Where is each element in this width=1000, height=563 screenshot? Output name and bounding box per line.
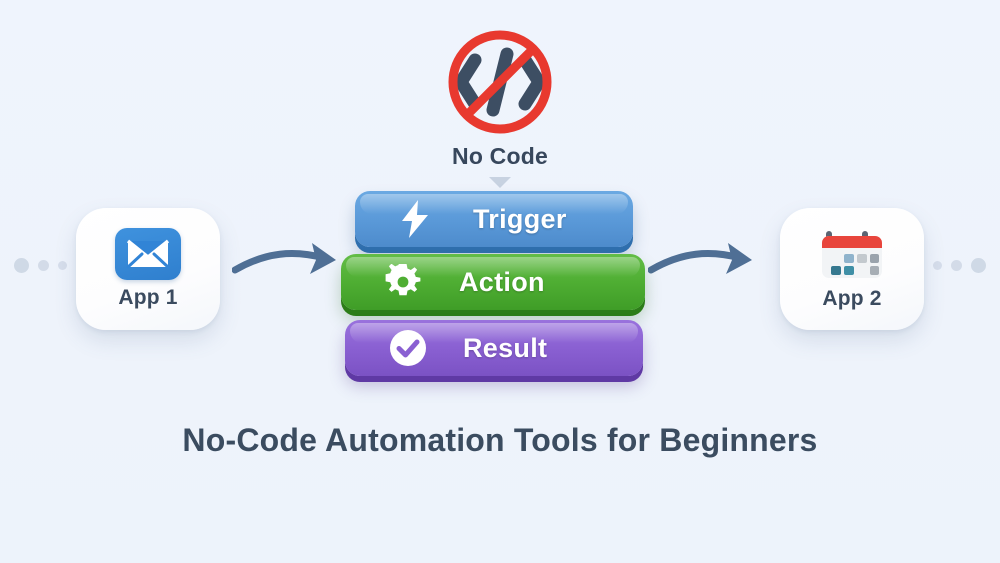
diagram-canvas: No Code App 1: [0, 0, 1000, 563]
no-code-badge: No Code: [400, 30, 600, 188]
no-code-prohibition-icon: [441, 30, 559, 138]
app-card-2-label: App 2: [822, 287, 881, 311]
trail-dot: [951, 260, 962, 271]
trail-dot: [971, 258, 986, 273]
step-button-trigger-label: Trigger: [473, 204, 567, 235]
envelope-icon: [115, 228, 181, 280]
trail-dot: [58, 261, 67, 270]
chevron-down-icon: [489, 177, 511, 188]
step-button-result[interactable]: Result: [345, 320, 643, 376]
trail-dot: [933, 261, 942, 270]
dot-trail-right: [917, 258, 986, 273]
trail-dot: [14, 258, 29, 273]
check-circle-icon: [389, 329, 427, 367]
step-button-trigger[interactable]: Trigger: [355, 191, 633, 247]
app-card-1-label: App 1: [118, 286, 177, 310]
step-button-result-label: Result: [463, 333, 547, 364]
app-card-1[interactable]: App 1: [76, 208, 220, 330]
lightning-bolt-icon: [399, 199, 431, 239]
step-button-action-label: Action: [459, 267, 545, 298]
arrow-app1-to-steps: [232, 238, 350, 299]
calendar-icon: [819, 227, 885, 281]
gear-icon: [385, 264, 421, 300]
page-title: No-Code Automation Tools for Beginners: [0, 422, 1000, 459]
arrow-steps-to-app2: [648, 238, 766, 299]
trail-dot: [38, 260, 49, 271]
no-code-label: No Code: [452, 143, 548, 170]
step-button-action[interactable]: Action: [341, 254, 645, 310]
app-card-2[interactable]: App 2: [780, 208, 924, 330]
dot-trail-left: [14, 258, 83, 273]
